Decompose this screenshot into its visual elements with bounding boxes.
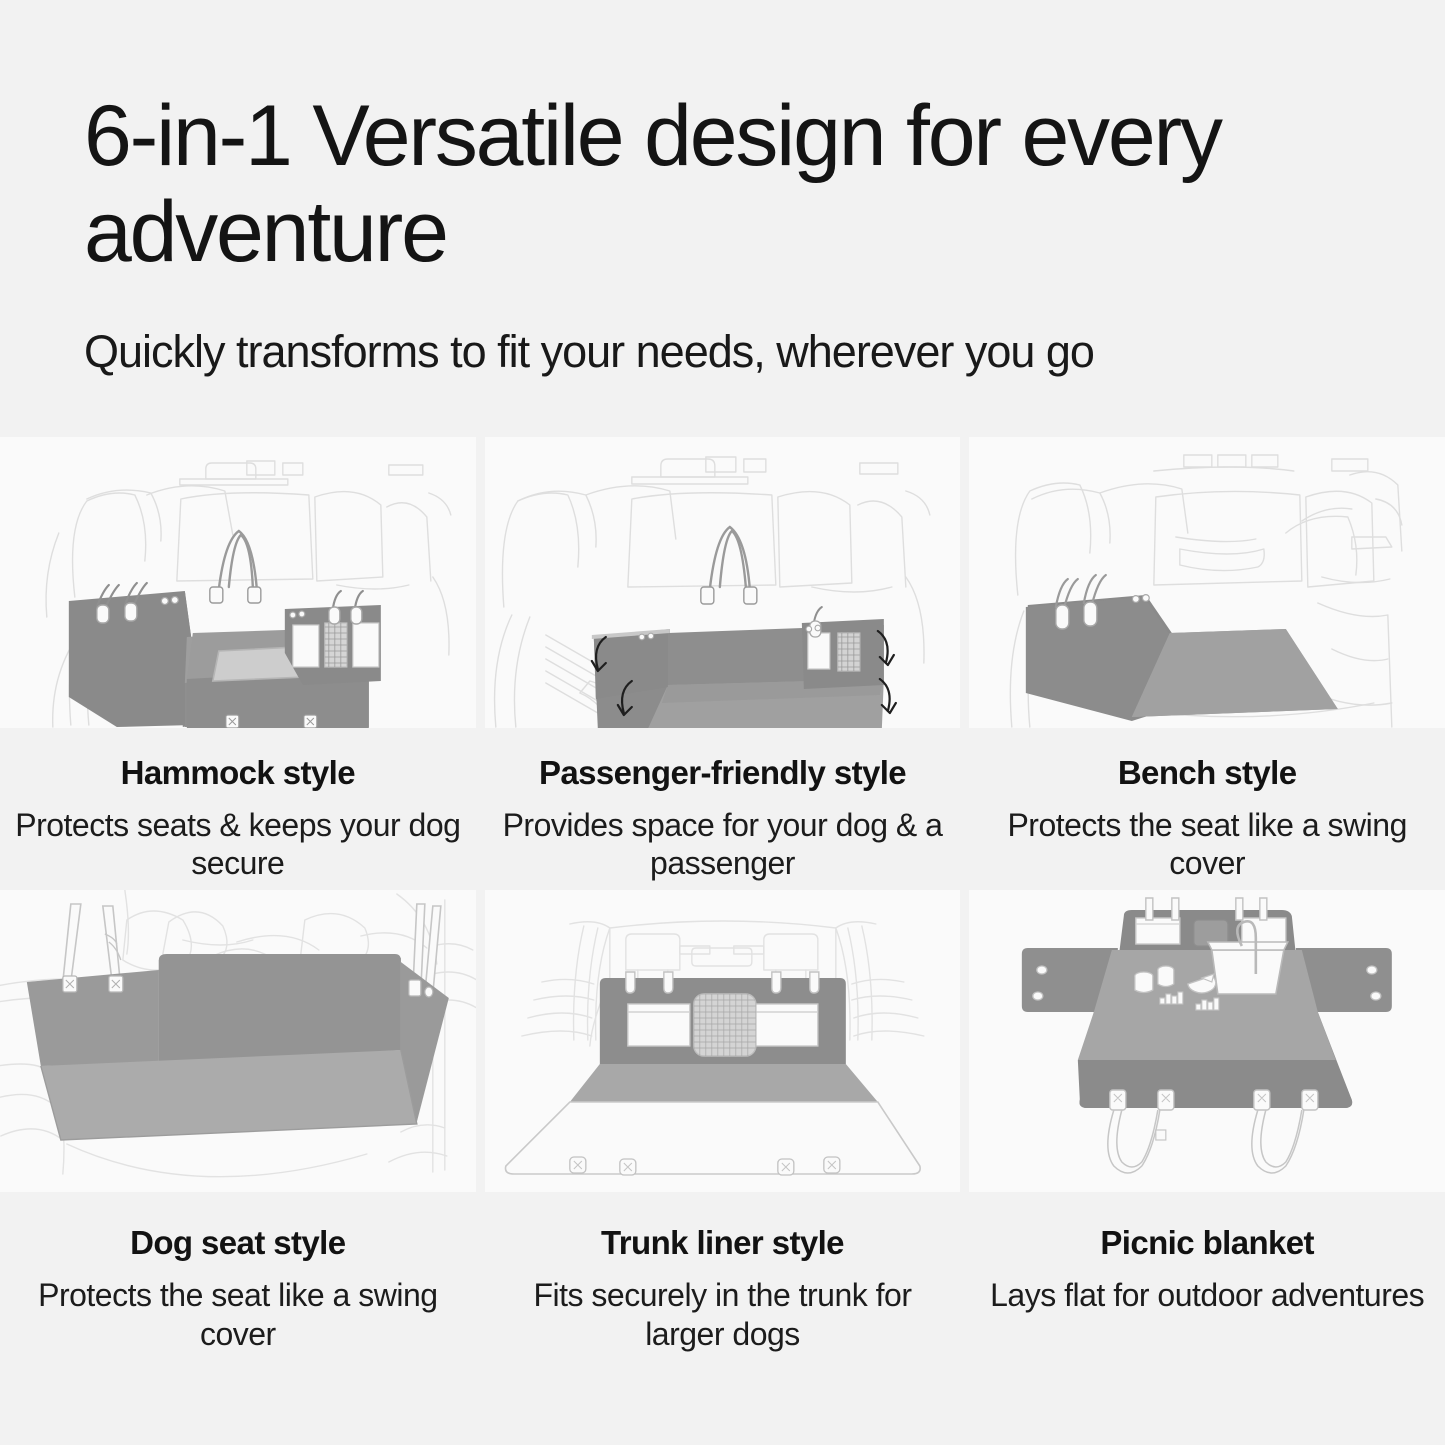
caption-hammock: Hammock style Protects seats & keeps you… [0, 728, 476, 883]
card-title: Picnic blanket [983, 1224, 1431, 1262]
infographic-page: 6-in-1 Versatile design for every advent… [0, 0, 1445, 1445]
page-subtitle: Quickly transforms to fit your needs, wh… [84, 325, 1361, 379]
feature-grid: Hammock style Protects seats & keeps you… [0, 437, 1445, 1353]
illustration-passenger-friendly-style [485, 437, 961, 728]
feature-card-picnic-blanket: Picnic blanket Lays flat for outdoor adv… [969, 890, 1445, 1353]
card-title: Hammock style [14, 754, 462, 792]
card-description: Protects the seat like a swing cover [983, 806, 1431, 883]
feature-card-passenger-friendly: Passenger-friendly style Provides space … [485, 437, 961, 883]
illustration-trunk-liner-style [485, 890, 961, 1192]
page-title: 6-in-1 Versatile design for every advent… [84, 88, 1264, 281]
card-title: Dog seat style [14, 1224, 462, 1262]
illustration-dog-seat-style [0, 890, 476, 1192]
feature-card-hammock: Hammock style Protects seats & keeps you… [0, 437, 476, 883]
feature-card-bench: Bench style Protects the seat like a swi… [969, 437, 1445, 883]
card-description: Provides space for your dog & a passenge… [499, 806, 947, 883]
illustration-bench-style [969, 437, 1445, 728]
feature-card-trunk-liner: Trunk liner style Fits securely in the t… [485, 890, 961, 1353]
card-description: Protects the seat like a swing cover [14, 1276, 462, 1353]
card-description: Protects seats & keeps your dog secure [14, 806, 462, 883]
caption-trunk-liner: Trunk liner style Fits securely in the t… [485, 1192, 961, 1353]
card-title: Passenger-friendly style [499, 754, 947, 792]
caption-bench: Bench style Protects the seat like a swi… [969, 728, 1445, 883]
illustration-picnic-blanket [969, 890, 1445, 1192]
header: 6-in-1 Versatile design for every advent… [0, 0, 1445, 379]
card-title: Bench style [983, 754, 1431, 792]
feature-card-dog-seat: Dog seat style Protects the seat like a … [0, 890, 476, 1353]
illustration-hammock-style [0, 437, 476, 728]
caption-picnic-blanket: Picnic blanket Lays flat for outdoor adv… [969, 1192, 1445, 1314]
caption-passenger-friendly: Passenger-friendly style Provides space … [485, 728, 961, 883]
card-description: Lays flat for outdoor adventures [983, 1276, 1431, 1314]
card-title: Trunk liner style [499, 1224, 947, 1262]
card-description: Fits securely in the trunk for larger do… [499, 1276, 947, 1353]
caption-dog-seat: Dog seat style Protects the seat like a … [0, 1192, 476, 1353]
